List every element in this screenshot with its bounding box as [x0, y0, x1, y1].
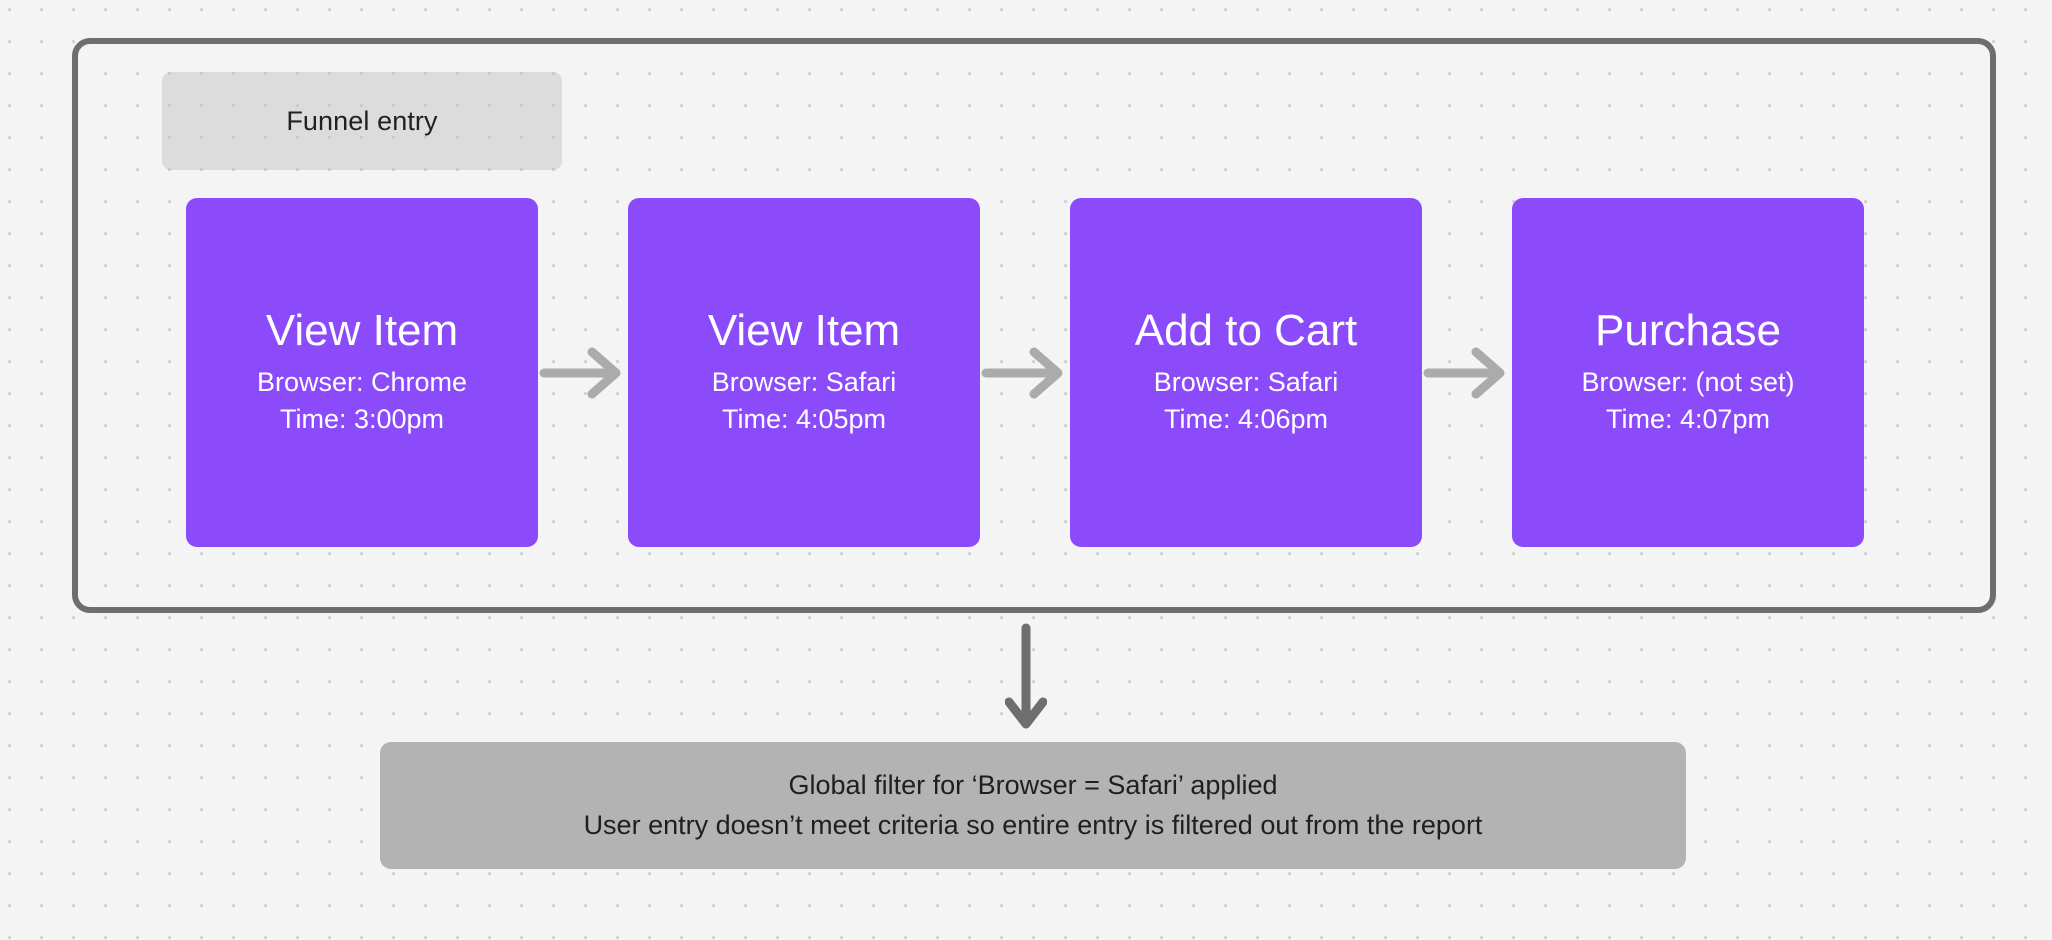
arrow-right-icon	[538, 343, 628, 403]
arrow-down-icon	[1005, 622, 1047, 734]
diagram-canvas: Funnel entry View Item Browser: Chrome T…	[0, 0, 2052, 940]
funnel-step-card-2[interactable]: View Item Browser: Safari Time: 4:05pm	[628, 198, 980, 547]
funnel-step-card-1[interactable]: View Item Browser: Chrome Time: 3:00pm	[186, 198, 538, 547]
arrow-right-icon	[980, 343, 1070, 403]
step-browser: Browser: Safari	[1154, 364, 1339, 401]
step-title: Add to Cart	[1135, 307, 1358, 355]
step-title: View Item	[708, 307, 900, 355]
filter-note-line-1: Global filter for ‘Browser = Safari’ app…	[789, 766, 1278, 805]
step-time: Time: 4:07pm	[1606, 401, 1770, 438]
step-time: Time: 3:00pm	[280, 401, 444, 438]
step-browser: Browser: Safari	[712, 364, 897, 401]
funnel-step-card-4[interactable]: Purchase Browser: (not set) Time: 4:07pm	[1512, 198, 1864, 547]
step-title: View Item	[266, 307, 458, 355]
step-title: Purchase	[1595, 307, 1781, 355]
arrow-right-icon	[1422, 343, 1512, 403]
filter-note-line-2: User entry doesn’t meet criteria so enti…	[584, 806, 1483, 845]
funnel-steps-row: View Item Browser: Chrome Time: 3:00pm V…	[186, 198, 1856, 547]
step-time: Time: 4:06pm	[1164, 401, 1328, 438]
step-browser: Browser: Chrome	[257, 364, 467, 401]
funnel-step-card-3[interactable]: Add to Cart Browser: Safari Time: 4:06pm	[1070, 198, 1422, 547]
step-time: Time: 4:05pm	[722, 401, 886, 438]
funnel-entry-chip-label: Funnel entry	[286, 106, 437, 137]
funnel-entry-chip: Funnel entry	[162, 72, 562, 170]
step-browser: Browser: (not set)	[1581, 364, 1794, 401]
filter-note-box: Global filter for ‘Browser = Safari’ app…	[380, 742, 1686, 869]
